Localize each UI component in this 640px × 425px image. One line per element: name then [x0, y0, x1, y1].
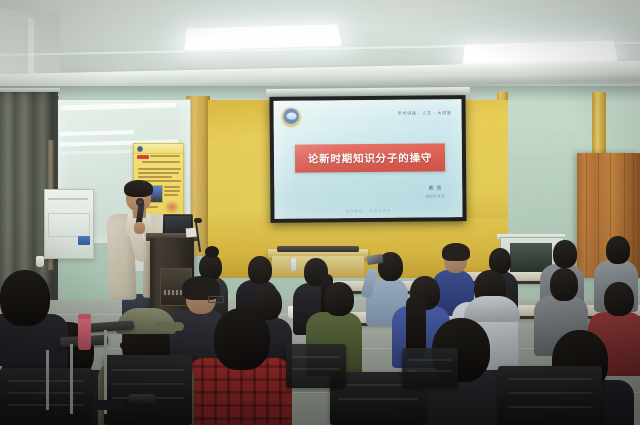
- projector-screen: 学术讲座 · 人文 · 大讲堂 论新时期知识分子的操守 戴 茂 2015.9.9…: [273, 99, 462, 219]
- lecture-chair-back: [104, 355, 192, 425]
- poster-crest-icon: [137, 146, 143, 152]
- cap-brim: [156, 322, 184, 331]
- slide-title-text: 论新时期知识分子的操守: [308, 150, 432, 166]
- poster-text-line: [138, 168, 181, 170]
- chair-leg: [46, 350, 49, 410]
- speaker-hair: [124, 180, 153, 197]
- person-head: [324, 282, 354, 316]
- hair-bun: [205, 246, 219, 258]
- slide-title-banner: 论新时期知识分子的操守: [295, 143, 445, 172]
- lecture-chair-back: [402, 348, 458, 388]
- poster-text-line: [138, 172, 179, 174]
- chair-leg: [70, 344, 73, 414]
- poster-text-line: [138, 176, 172, 178]
- slide-presenter-name: 戴 茂: [429, 185, 443, 191]
- person-head: [606, 236, 630, 264]
- person-head: [248, 256, 272, 284]
- hoodie-hood: [464, 296, 520, 322]
- ac-vent: [48, 198, 88, 200]
- pink-thermos: [78, 318, 91, 350]
- speaker-hand: [134, 222, 145, 234]
- gooseneck-mic-head-icon: [194, 218, 202, 223]
- slide-date: 2015.9.9: [426, 193, 445, 198]
- poster-text-line: [150, 155, 180, 157]
- person-head: [0, 270, 50, 326]
- person-head: [604, 282, 634, 316]
- person-hair: [442, 243, 470, 261]
- paper-cup: [36, 256, 44, 267]
- thermos-lid: [78, 314, 91, 319]
- slide-footer-text: 主办单位 · 学生工作处: [346, 208, 392, 213]
- crest-inner-icon: [286, 113, 296, 120]
- person-head: [550, 268, 578, 301]
- person-head: [214, 308, 270, 370]
- ac-front-panel: [48, 213, 90, 237]
- lecture-chair-back: [498, 366, 602, 425]
- eyeglasses-icon: [208, 296, 224, 303]
- poster-text-line: [142, 161, 180, 163]
- lecture-chair-back: [286, 344, 346, 388]
- shoe: [96, 400, 122, 410]
- poster-accent-bar: [137, 155, 149, 159]
- lecture-hall-photo: 学术讲座 · 人文 · 大讲堂 论新时期知识分子的操守 戴 茂 2015.9.9…: [0, 0, 640, 425]
- slide-header-text: 学术讲座 · 人文 · 大讲堂: [397, 110, 451, 116]
- ledge-equipment: [277, 246, 359, 252]
- water-bottle: [291, 258, 296, 271]
- ac-brand-badge: [78, 236, 90, 245]
- shoe: [128, 394, 156, 405]
- microphone-head-icon: [136, 198, 144, 206]
- person-head: [553, 240, 577, 268]
